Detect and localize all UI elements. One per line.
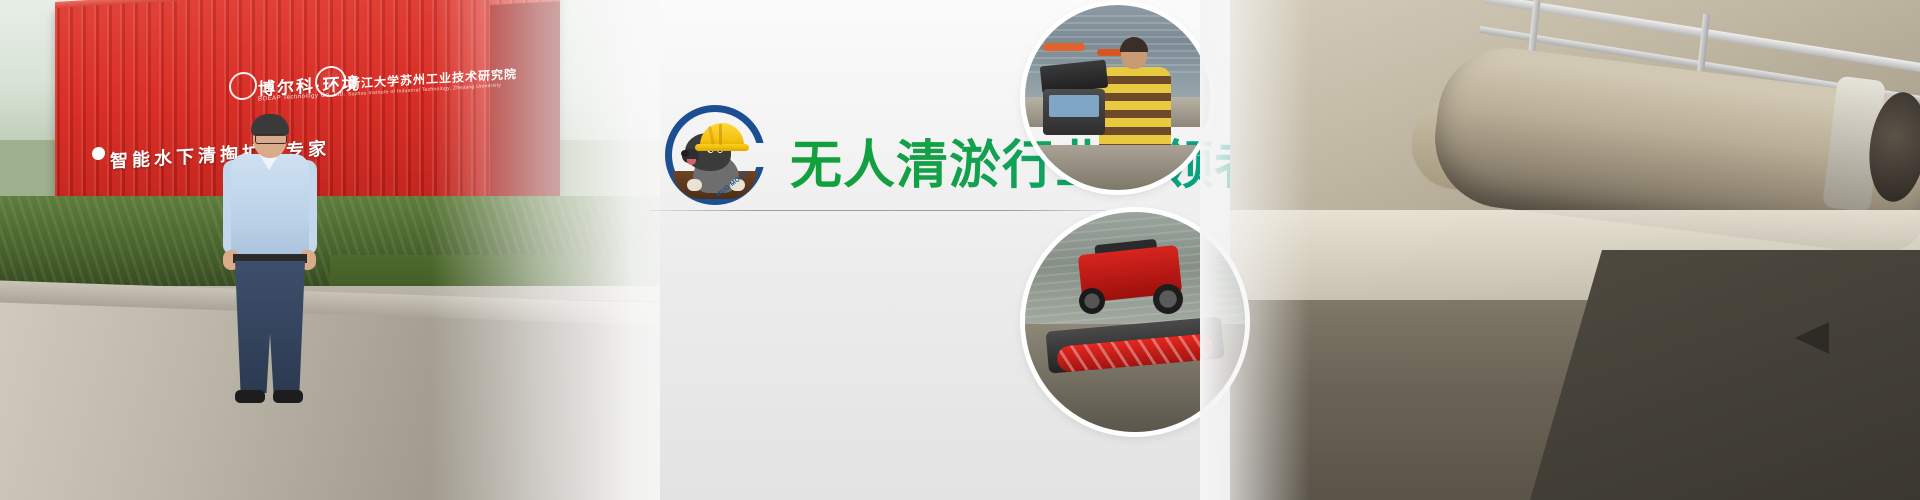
logo-ring-text-label: MUD MOLE [715,170,749,199]
robot-wheel-right [1153,284,1183,314]
sludge-pipe-photo [1230,0,1920,500]
control-case [1043,89,1105,135]
headline-divider [650,210,1115,211]
mud-mole-logo: MUD MOLE [665,105,765,205]
dredging-robot-photo [1025,212,1245,432]
person-shirt [231,154,309,259]
person-figure [215,118,325,413]
mole-left-paw [687,179,702,191]
person-left-shoe [235,390,265,403]
operator-body [1099,67,1171,152]
left-photo-fade [430,0,660,500]
mole-helmet-rib [719,124,722,145]
person-hair [251,114,289,136]
mole-nose [681,150,689,157]
hero-banner: 博尔科·环境 BOEAP Technology Co.,Ltd. 浙江大学苏州工… [0,0,1920,500]
mole-hard-hat-icon [700,123,744,149]
arrow-marker-icon [1795,322,1829,354]
operator-control-photo [1025,5,1210,190]
person-pants [235,261,305,393]
person-glasses [255,134,287,144]
robot-wheel-left [1079,288,1105,314]
orange-float-1 [1043,43,1085,51]
foreground-ground [1025,145,1210,190]
left-photo: 博尔科·环境 BOEAP Technology Co.,Ltd. 浙江大学苏州工… [0,0,660,500]
right-photo-group [1230,0,1920,500]
person-right-shoe [273,390,303,403]
logo-ring-text: MUD MOLE [711,167,765,207]
